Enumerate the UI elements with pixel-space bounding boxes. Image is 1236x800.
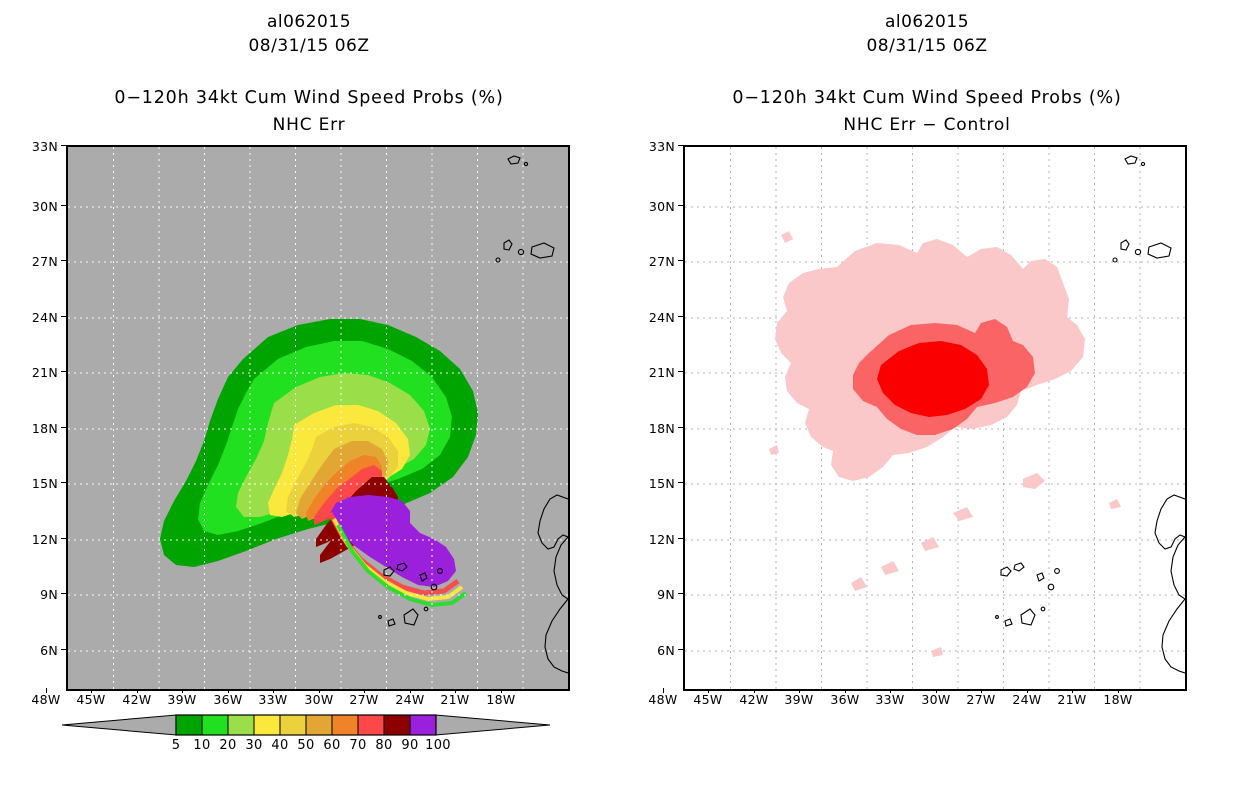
right-ylabel-6n: 6N xyxy=(635,643,675,658)
right-xlabel-21w: 21W xyxy=(1050,692,1094,707)
left-chart-subtitle: NHC Err xyxy=(0,115,618,135)
left-xlabel-21w: 21W xyxy=(433,692,477,707)
left-xlabel-30w: 30W xyxy=(297,692,341,707)
coastline-africa xyxy=(1155,495,1185,673)
left-xlabel-45w: 45W xyxy=(69,692,113,707)
left-xlabel-18w: 18W xyxy=(479,692,523,707)
left-xlabel-39w: 39W xyxy=(160,692,204,707)
left-ylabel-12n: 12N xyxy=(18,532,58,547)
cbar-left-tick-100: 100 xyxy=(418,738,458,753)
islands-canary xyxy=(1113,156,1171,262)
left-ylabel-27n: 27N xyxy=(18,254,58,269)
map-nhc-err[interactable] xyxy=(66,145,570,691)
contour-bands-probability xyxy=(160,319,478,587)
right-ylabel-12n: 12N xyxy=(635,532,675,547)
right-xlabel-27w: 27W xyxy=(959,692,1003,707)
left-chart-title: 0−120h 34kt Cum Wind Speed Probs (%) xyxy=(0,88,618,108)
right-xlabel-48w: 48W xyxy=(641,692,685,707)
left-datetime: 08/31/15 06Z xyxy=(0,36,618,56)
left-ylabel-30n: 30N xyxy=(18,199,58,214)
right-chart-title: 0−120h 34kt Cum Wind Speed Probs (%) xyxy=(618,88,1236,108)
map-canvas-left xyxy=(68,147,568,689)
islands-canary xyxy=(496,156,554,262)
contour-bands-difference xyxy=(775,239,1085,481)
right-ylabel-24n: 24N xyxy=(635,310,675,325)
left-ylabel-6n: 6N xyxy=(18,643,58,658)
left-storm-id: al062015 xyxy=(0,12,618,32)
right-xlabel-30w: 30W xyxy=(914,692,958,707)
left-xlabel-24w: 24W xyxy=(388,692,432,707)
probability-colorbar: 5 10 20 30 40 50 60 70 80 90 100 xyxy=(46,713,566,759)
left-ylabel-24n: 24N xyxy=(18,310,58,325)
cbar-left-under-arrow xyxy=(62,715,176,735)
right-xlabel-33w: 33W xyxy=(868,692,912,707)
right-ylabel-27n: 27N xyxy=(635,254,675,269)
coastline-africa xyxy=(538,495,568,673)
right-xlabel-18w: 18W xyxy=(1096,692,1140,707)
left-xlabel-33w: 33W xyxy=(251,692,295,707)
left-xlabel-48w: 48W xyxy=(24,692,68,707)
probability-colorbar-body xyxy=(46,713,566,737)
right-xlabel-36w: 36W xyxy=(823,692,867,707)
right-ylabel-9n: 9N xyxy=(635,587,675,602)
left-ylabel-33n: 33N xyxy=(18,139,58,154)
left-ylabel-15n: 15N xyxy=(18,476,58,491)
left-ylabel-18n: 18N xyxy=(18,421,58,436)
right-ylabel-33n: 33N xyxy=(635,139,675,154)
cbar-left-over-arrow xyxy=(436,715,550,735)
left-xlabel-42w: 42W xyxy=(115,692,159,707)
left-xlabel-27w: 27W xyxy=(342,692,386,707)
right-xlabel-45w: 45W xyxy=(686,692,730,707)
probability-colorbar-ticks: 5 10 20 30 40 50 60 70 80 90 100 xyxy=(46,738,566,758)
right-datetime: 08/31/15 06Z xyxy=(618,36,1236,56)
left-ylabel-21n: 21N xyxy=(18,365,58,380)
panel-nhc-err: al062015 08/31/15 06Z 0−120h 34kt Cum Wi… xyxy=(0,0,618,800)
map-nhc-err-minus-control[interactable] xyxy=(683,145,1187,691)
right-storm-id: al062015 xyxy=(618,12,1236,32)
left-ylabel-9n: 9N xyxy=(18,587,58,602)
cbar-left-cells xyxy=(176,715,436,735)
right-xlabel-39w: 39W xyxy=(777,692,821,707)
right-ylabel-15n: 15N xyxy=(635,476,675,491)
panel-nhc-err-minus-control: al062015 08/31/15 06Z 0−120h 34kt Cum Wi… xyxy=(618,0,1236,800)
right-xlabel-24w: 24W xyxy=(1005,692,1049,707)
left-xlabel-36w: 36W xyxy=(206,692,250,707)
right-chart-subtitle: NHC Err − Control xyxy=(618,115,1236,135)
right-ylabel-18n: 18N xyxy=(635,421,675,436)
right-xlabel-42w: 42W xyxy=(732,692,776,707)
map-canvas-right xyxy=(685,147,1185,689)
right-ylabel-21n: 21N xyxy=(635,365,675,380)
right-ylabel-30n: 30N xyxy=(635,199,675,214)
contour-band-100 xyxy=(330,495,456,587)
